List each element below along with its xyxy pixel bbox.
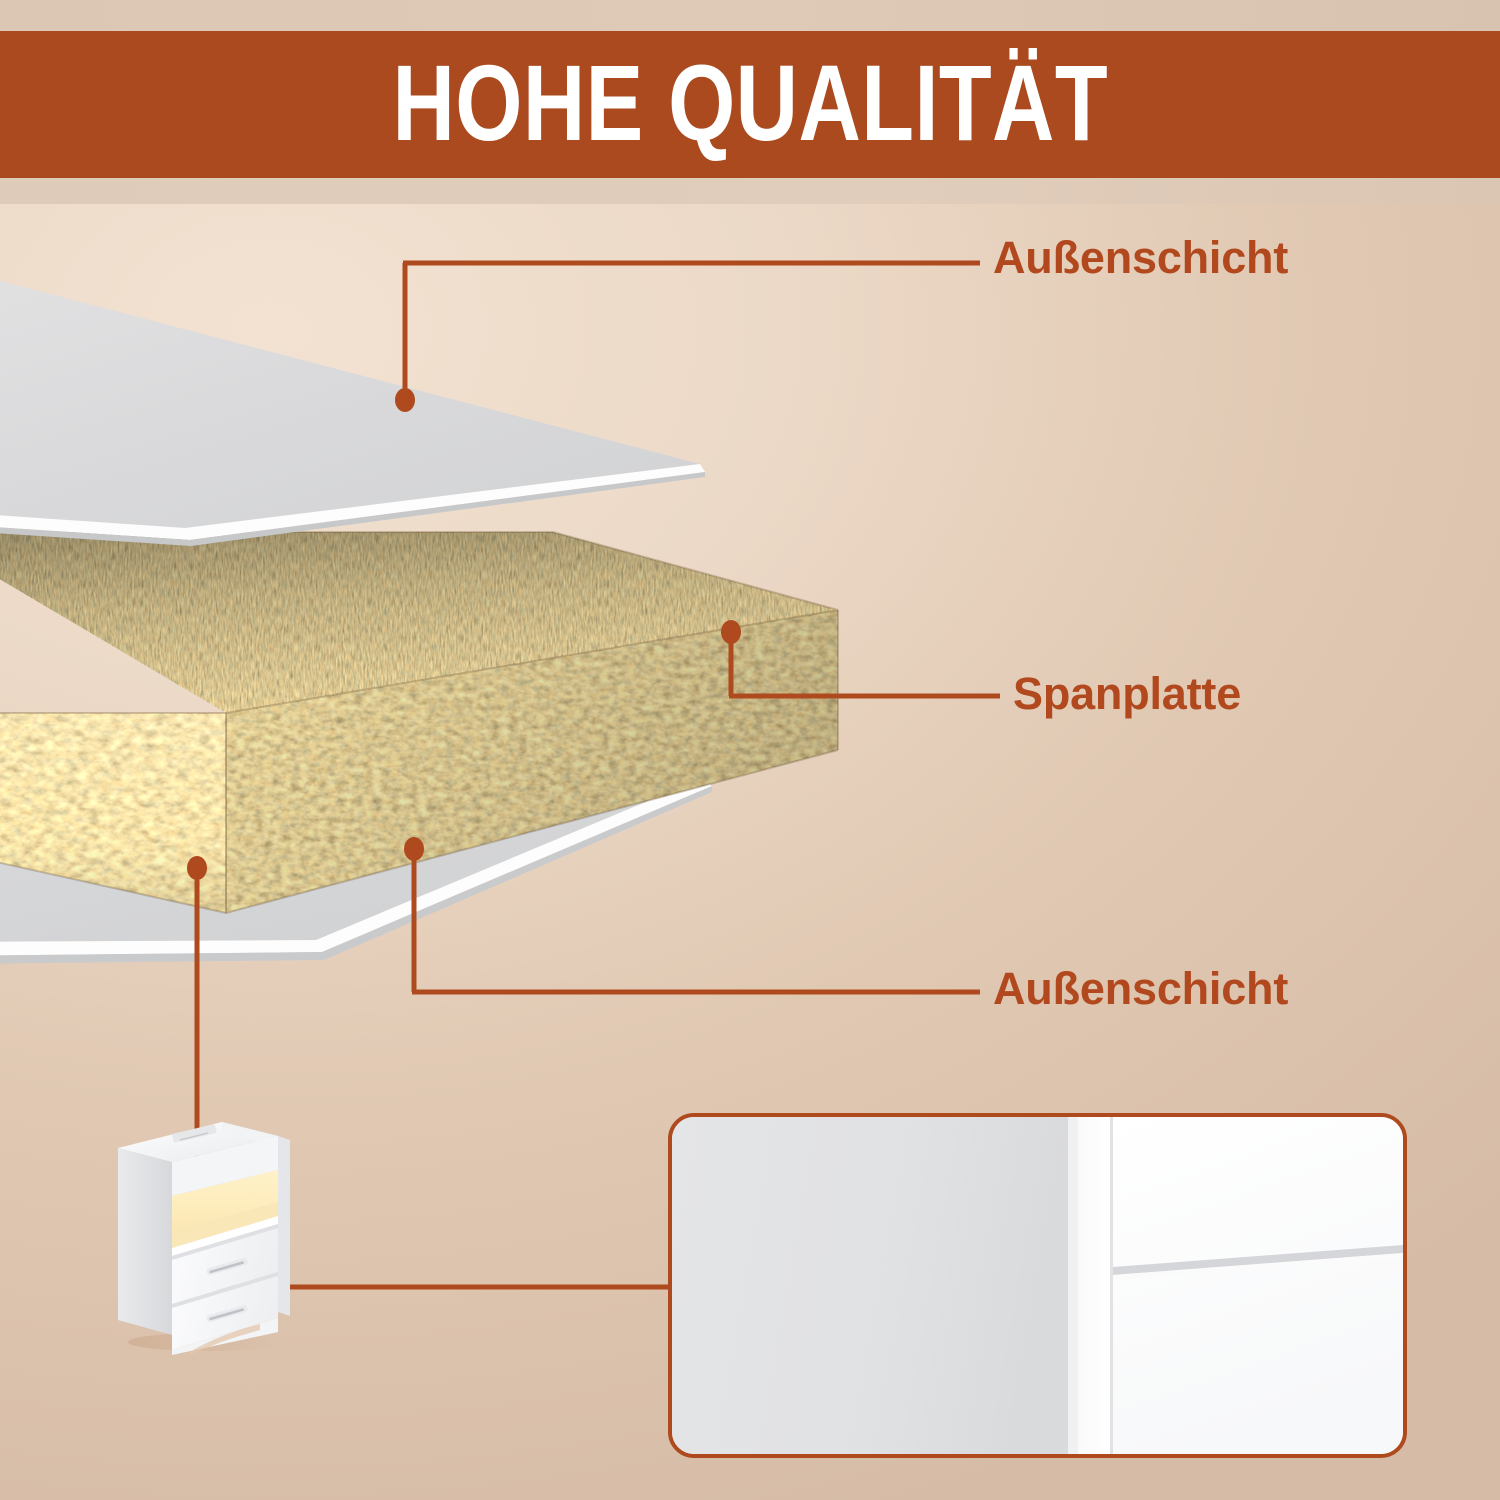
nightstand-side-panel [118, 1148, 172, 1335]
nightstand-svg [110, 1120, 330, 1355]
quality-infographic: HOHE QUALITÄT [0, 0, 1500, 1500]
product-thumbnail-nightstand [110, 1120, 330, 1355]
detail-closeup-panel [668, 1113, 1407, 1458]
layer-outer-top [0, 260, 705, 546]
header-banner: HOHE QUALITÄT [0, 31, 1500, 178]
top-strip [0, 0, 1500, 32]
page-title: HOHE QUALITÄT [392, 49, 1108, 157]
label-outer-layer-top: Außenschicht [993, 232, 1288, 284]
detail-closeup-svg [672, 1117, 1403, 1454]
label-particleboard: Spanplatte [1013, 668, 1241, 720]
label-outer-layer-bottom: Außenschicht [993, 963, 1288, 1015]
